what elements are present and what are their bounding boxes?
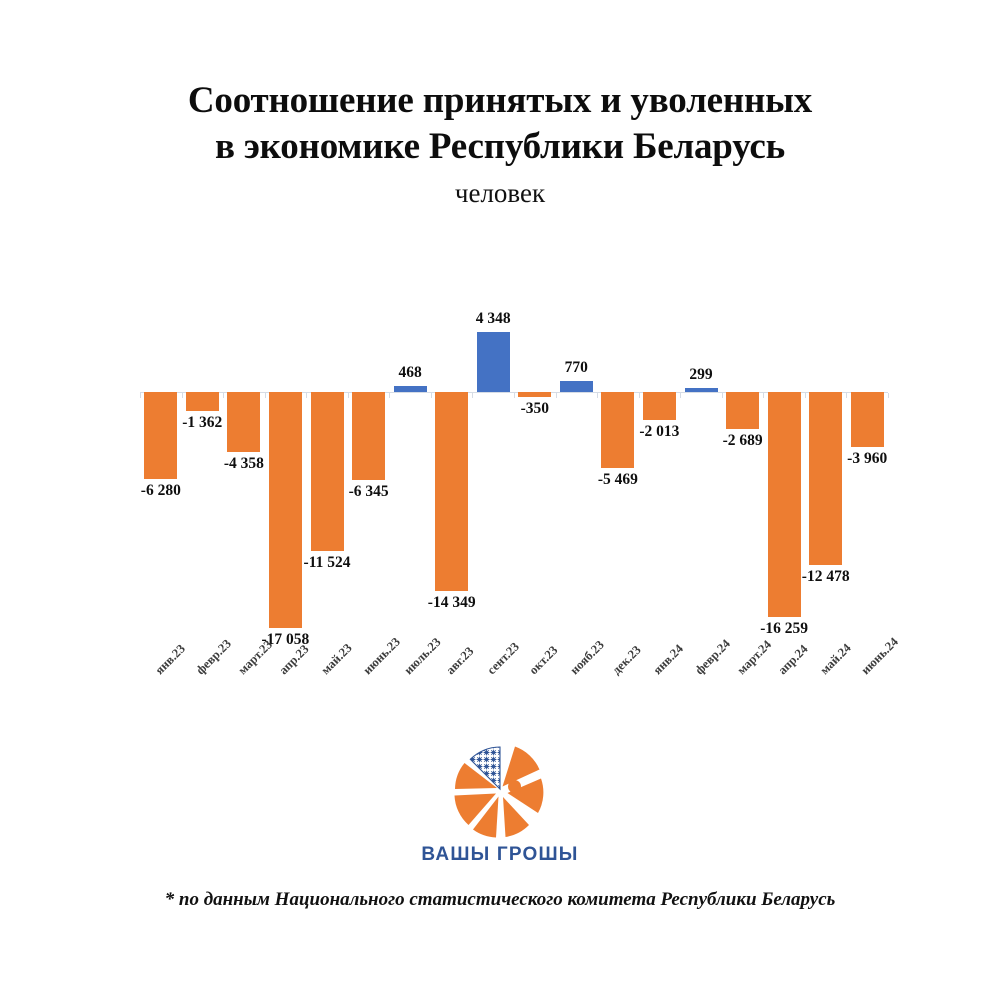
bar-label-окт-23: -350	[496, 401, 574, 417]
axis-tick	[722, 393, 723, 398]
bar-янв-24[interactable]	[643, 392, 676, 420]
bar-янв-23[interactable]	[144, 392, 177, 479]
category-axis: янв.23февр.23март.23апр.23май.23июнь.23и…	[140, 668, 888, 738]
source-footnote: * по данным Национального статистическог…	[0, 889, 1000, 911]
bar-label-авг-23: -14 349	[413, 595, 491, 611]
bar-label-сент-23: 4 348	[454, 311, 532, 327]
axis-tick	[389, 393, 390, 398]
bar-label-дек-23: -5 469	[579, 472, 657, 488]
bar-март-24[interactable]	[726, 392, 759, 429]
axis-tick	[306, 393, 307, 398]
axis-tick	[763, 393, 764, 398]
bar-label-июнь-23: -6 345	[330, 484, 408, 500]
bar-label-май-24: -12 478	[787, 569, 865, 585]
axis-tick	[639, 393, 640, 398]
bar-май-23[interactable]	[311, 392, 344, 551]
axis-tick	[680, 393, 681, 398]
vashy-hroshy-pie-logo-icon	[441, 742, 559, 842]
brand-logo-text: ВАШЫ ГРОШЫ	[0, 844, 1000, 866]
bar-сент-23[interactable]	[477, 332, 510, 392]
axis-tick	[472, 393, 473, 398]
bar-февр-23[interactable]	[186, 392, 219, 411]
axis-tick	[140, 393, 141, 398]
bar-chart-plot-area: -6 280-1 362-4 358-17 058-11 524-6 34546…	[140, 280, 888, 660]
axis-tick	[182, 393, 183, 398]
bar-окт-23[interactable]	[518, 392, 551, 397]
bar-апр-23[interactable]	[269, 392, 302, 628]
bar-label-февр-24: 299	[662, 367, 740, 383]
axis-tick	[265, 393, 266, 398]
bar-label-февр-23: -1 362	[163, 415, 241, 431]
bar-label-янв-24: -2 013	[620, 424, 698, 440]
axis-tick	[556, 393, 557, 398]
chart-subtitle: человек	[0, 178, 1000, 208]
bar-label-март-24: -2 689	[704, 433, 782, 449]
bar-label-июль-23: 468	[371, 365, 449, 381]
title-block: Соотношение принятых и уволенных в эконо…	[0, 78, 1000, 208]
bar-авг-23[interactable]	[435, 392, 468, 591]
bar-нояб-23[interactable]	[560, 381, 593, 392]
bar-label-янв-23: -6 280	[122, 483, 200, 499]
axis-tick	[431, 393, 432, 398]
axis-tick	[223, 393, 224, 398]
bar-май-24[interactable]	[809, 392, 842, 565]
bar-label-июнь-24: -3 960	[828, 451, 906, 467]
axis-tick	[846, 393, 847, 398]
bar-label-апр-24: -16 259	[745, 621, 823, 637]
axis-tick	[888, 393, 889, 398]
bar-февр-24[interactable]	[685, 388, 718, 392]
bar-июль-23[interactable]	[394, 386, 427, 393]
brand-logo-block: ВАШЫ ГРОШЫ	[0, 742, 1000, 866]
bar-июнь-23[interactable]	[352, 392, 385, 480]
bar-label-май-23: -11 524	[288, 555, 366, 571]
bar-label-нояб-23: 770	[537, 360, 615, 376]
axis-tick	[597, 393, 598, 398]
axis-tick	[348, 393, 349, 398]
page-title: Соотношение принятых и уволенных в эконо…	[0, 78, 1000, 170]
axis-tick	[514, 393, 515, 398]
axis-tick	[805, 393, 806, 398]
bar-label-март-23: -4 358	[205, 456, 283, 472]
bar-июнь-24[interactable]	[851, 392, 884, 447]
